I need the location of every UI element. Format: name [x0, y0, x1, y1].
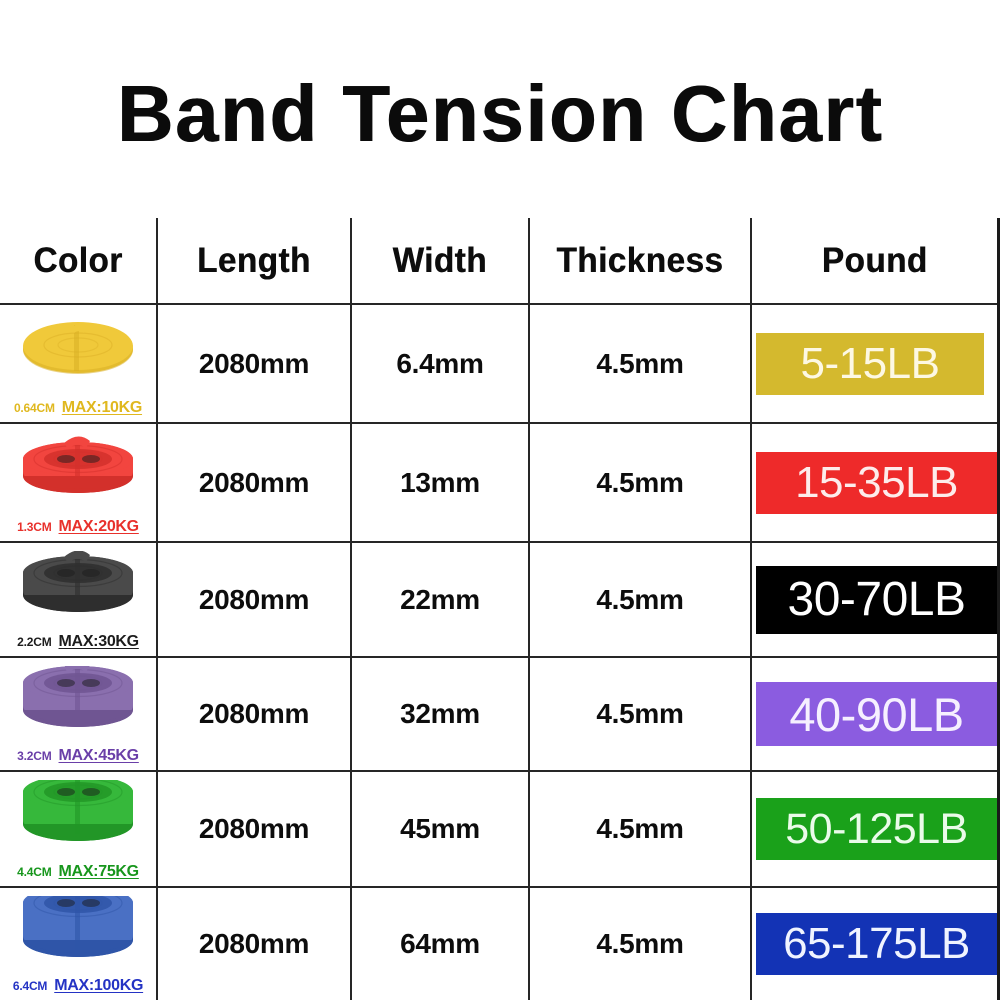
cell-width: 6.4mm	[352, 305, 530, 422]
band-max-load: MAX:100KG	[54, 977, 143, 995]
band-max-load: MAX:20KG	[59, 518, 139, 536]
value-thickness: 4.5mm	[596, 813, 683, 845]
band-coil-graphic	[14, 313, 142, 379]
band-image-yellow	[14, 313, 142, 379]
pound-badge-wrap: 15-35LB	[752, 424, 997, 541]
cell-thickness: 4.5mm	[530, 772, 752, 886]
value-length: 2080mm	[199, 813, 309, 845]
band-spec-line: 3.2CM MAX:45KG	[0, 747, 156, 765]
band-max-load: MAX:45KG	[59, 747, 139, 765]
band-flat-width: 1.3CM	[17, 520, 51, 534]
cell-length: 2080mm	[158, 658, 352, 770]
pound-badge-wrap: 50-125LB	[752, 772, 997, 886]
table-row: 2.2CM MAX:30KG 2080mm 22mm 4.5mm 30-70LB	[0, 543, 997, 658]
header-cell-length: Length	[158, 218, 352, 303]
cell-width: 22mm	[352, 543, 530, 656]
pound-badge-wrap: 65-175LB	[752, 888, 997, 1000]
cell-length: 2080mm	[158, 424, 352, 541]
header-label-width: Width	[393, 241, 487, 281]
band-max-load: MAX:30KG	[59, 633, 139, 651]
cell-thickness: 4.5mm	[530, 305, 752, 422]
value-thickness: 4.5mm	[596, 698, 683, 730]
header-cell-width: Width	[352, 218, 530, 303]
cell-width: 45mm	[352, 772, 530, 886]
band-swatch-purple: 3.2CM MAX:45KG	[0, 658, 156, 770]
band-coil-graphic	[14, 551, 142, 617]
table-body: 0.64CM MAX:10KG 2080mm 6.4mm 4.5mm 5-15L…	[0, 305, 997, 1000]
value-length: 2080mm	[199, 348, 309, 380]
band-flat-width: 2.2CM	[17, 635, 51, 649]
cell-pound: 50-125LB	[752, 772, 997, 886]
value-width: 6.4mm	[396, 348, 483, 380]
band-coil-graphic	[14, 666, 142, 732]
value-thickness: 4.5mm	[596, 928, 683, 960]
value-thickness: 4.5mm	[596, 467, 683, 499]
table-row: 1.3CM MAX:20KG 2080mm 13mm 4.5mm 15-35LB	[0, 424, 997, 543]
band-max-load: MAX:10KG	[62, 399, 142, 417]
cell-thickness: 4.5mm	[530, 424, 752, 541]
value-length: 2080mm	[199, 698, 309, 730]
band-swatch-black: 2.2CM MAX:30KG	[0, 543, 156, 656]
cell-length: 2080mm	[158, 772, 352, 886]
cell-width: 64mm	[352, 888, 530, 1000]
pound-badge-wrap: 40-90LB	[752, 658, 997, 770]
cell-thickness: 4.5mm	[530, 658, 752, 770]
pound-badge-yellow: 5-15LB	[756, 333, 984, 395]
cell-color-purple: 3.2CM MAX:45KG	[0, 658, 158, 770]
cell-pound: 65-175LB	[752, 888, 997, 1000]
table-row: 6.4CM MAX:100KG 2080mm 64mm 4.5mm 65-175…	[0, 888, 997, 1000]
value-width: 45mm	[400, 813, 480, 845]
band-swatch-red: 1.3CM MAX:20KG	[0, 424, 156, 541]
cell-color-blue: 6.4CM MAX:100KG	[0, 888, 158, 1000]
band-image-red	[14, 432, 142, 498]
value-width: 13mm	[400, 467, 480, 499]
pound-badge-wrap: 30-70LB	[752, 543, 997, 656]
band-flat-width: 3.2CM	[17, 749, 51, 763]
cell-pound: 15-35LB	[752, 424, 997, 541]
cell-width: 32mm	[352, 658, 530, 770]
header-label-pound: Pound	[822, 241, 928, 281]
value-thickness: 4.5mm	[596, 348, 683, 380]
band-spec-line: 1.3CM MAX:20KG	[0, 518, 156, 536]
header-cell-pound: Pound	[752, 218, 997, 303]
table-row: 3.2CM MAX:45KG 2080mm 32mm 4.5mm 40-90LB	[0, 658, 997, 772]
cell-color-black: 2.2CM MAX:30KG	[0, 543, 158, 656]
tension-table: Color Length Width Thickness Pound	[0, 218, 1000, 1000]
band-coil-graphic	[14, 896, 142, 962]
header-cell-color: Color	[0, 218, 158, 303]
band-image-black	[14, 551, 142, 617]
cell-length: 2080mm	[158, 543, 352, 656]
value-width: 32mm	[400, 698, 480, 730]
cell-thickness: 4.5mm	[530, 888, 752, 1000]
cell-color-red: 1.3CM MAX:20KG	[0, 424, 158, 541]
band-swatch-green: 4.4CM MAX:75KG	[0, 772, 156, 886]
cell-thickness: 4.5mm	[530, 543, 752, 656]
value-thickness: 4.5mm	[596, 584, 683, 616]
band-image-green	[14, 780, 142, 846]
value-length: 2080mm	[199, 928, 309, 960]
cell-pound: 40-90LB	[752, 658, 997, 770]
band-flat-width: 4.4CM	[17, 865, 51, 879]
page-title: Band Tension Chart	[117, 74, 883, 154]
band-tension-chart-page: Band Tension Chart Color Length Width Th…	[0, 0, 1000, 1000]
value-length: 2080mm	[199, 467, 309, 499]
header-cell-thickness: Thickness	[530, 218, 752, 303]
cell-length: 2080mm	[158, 305, 352, 422]
pound-badge-purple: 40-90LB	[756, 682, 997, 746]
pound-badge-green: 50-125LB	[756, 798, 997, 860]
pound-badge-red: 15-35LB	[756, 452, 997, 514]
header-label-length: Length	[197, 241, 311, 281]
cell-color-yellow: 0.64CM MAX:10KG	[0, 305, 158, 422]
band-coil-graphic	[14, 432, 142, 498]
cell-width: 13mm	[352, 424, 530, 541]
pound-badge-wrap: 5-15LB	[752, 305, 997, 422]
cell-length: 2080mm	[158, 888, 352, 1000]
band-image-blue	[14, 896, 142, 962]
band-spec-line: 2.2CM MAX:30KG	[0, 633, 156, 651]
value-width: 22mm	[400, 584, 480, 616]
pound-badge-black: 30-70LB	[756, 566, 997, 634]
band-swatch-yellow: 0.64CM MAX:10KG	[0, 305, 156, 422]
cell-pound: 5-15LB	[752, 305, 997, 422]
band-flat-width: 0.64CM	[14, 401, 55, 415]
pound-badge-blue: 65-175LB	[756, 913, 997, 975]
band-max-load: MAX:75KG	[59, 863, 139, 881]
value-width: 64mm	[400, 928, 480, 960]
cell-color-green: 4.4CM MAX:75KG	[0, 772, 158, 886]
table-row: 0.64CM MAX:10KG 2080mm 6.4mm 4.5mm 5-15L…	[0, 305, 997, 424]
band-coil-graphic	[14, 780, 142, 846]
header-label-color: Color	[33, 241, 122, 281]
band-swatch-blue: 6.4CM MAX:100KG	[0, 888, 156, 1000]
value-length: 2080mm	[199, 584, 309, 616]
header-label-thickness: Thickness	[557, 241, 724, 281]
band-spec-line: 0.64CM MAX:10KG	[0, 399, 156, 417]
band-spec-line: 4.4CM MAX:75KG	[0, 863, 156, 881]
table-row: 4.4CM MAX:75KG 2080mm 45mm 4.5mm 50-125L…	[0, 772, 997, 888]
band-image-purple	[14, 666, 142, 732]
band-spec-line: 6.4CM MAX:100KG	[0, 977, 156, 995]
band-flat-width: 6.4CM	[13, 979, 47, 993]
table-header-row: Color Length Width Thickness Pound	[0, 218, 997, 305]
cell-pound: 30-70LB	[752, 543, 997, 656]
page-title-area: Band Tension Chart	[0, 0, 1000, 218]
